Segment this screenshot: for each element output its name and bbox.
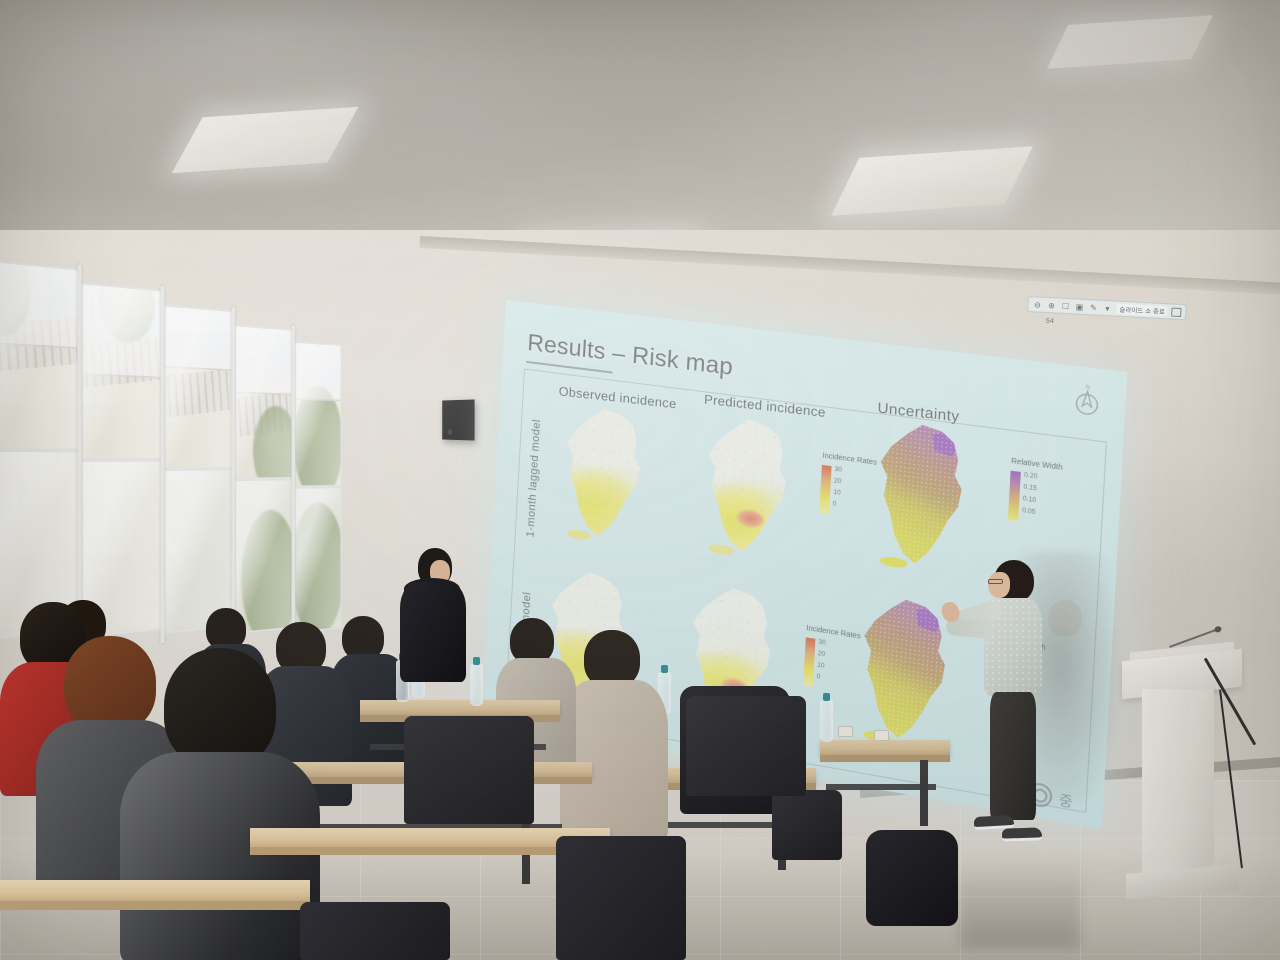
lectern-body — [1142, 689, 1214, 875]
legend-tick: 30 — [834, 465, 842, 477]
north-arrow-icon: N — [1069, 381, 1106, 422]
slide-number: 54 — [1046, 318, 1054, 325]
uncertainty-dither — [858, 418, 990, 575]
desk-rail — [826, 784, 936, 790]
floor-reflection — [960, 838, 1080, 948]
legend-tick: 20 — [834, 476, 842, 489]
korea-map-shape — [547, 403, 666, 546]
legend-tick: 0.05 — [1022, 506, 1036, 520]
water-bottle[interactable] — [820, 700, 833, 742]
presenter-face — [988, 572, 1010, 598]
backpack — [866, 830, 958, 926]
presenter-trousers — [990, 692, 1036, 820]
chair[interactable] — [686, 696, 806, 796]
desk-edge — [820, 755, 950, 762]
legend-tick: 0 — [816, 672, 824, 685]
wall-outlet[interactable] — [838, 726, 853, 737]
legend-tick: 10 — [833, 488, 841, 501]
svg-text:N: N — [1086, 385, 1091, 392]
standing-attendee — [398, 548, 468, 678]
window-shade[interactable] — [296, 343, 341, 402]
chair[interactable] — [300, 902, 450, 960]
korea-map-shape — [858, 418, 990, 575]
end-show-label[interactable]: 슬라이드 쇼 종료 — [1116, 304, 1168, 317]
presenter — [968, 560, 1056, 850]
chevron-down-icon[interactable]: ▾ — [1102, 303, 1113, 314]
tree-foliage — [253, 406, 294, 480]
legend-ticks: 0.20 0.15 0.10 0.05 — [1022, 470, 1038, 519]
window-shade[interactable] — [82, 284, 162, 378]
window-mullion — [77, 265, 81, 657]
glasses-icon — [988, 579, 1003, 584]
legend-tick: 0 — [832, 499, 840, 512]
map-predicted-1month — [688, 413, 814, 562]
window-shade[interactable] — [236, 326, 293, 395]
desk — [0, 880, 310, 960]
window-pane — [81, 282, 164, 460]
window-mullion — [161, 286, 165, 643]
zoom-in-icon[interactable]: ⊕ — [1046, 300, 1057, 311]
window-pane — [234, 325, 294, 480]
chair[interactable] — [556, 836, 686, 960]
window-mullion — [292, 326, 295, 634]
window-pane — [294, 341, 341, 487]
lecture-hall-scene: Results – Risk map N Observed incidence … — [0, 0, 1280, 960]
tree-foliage — [294, 502, 341, 633]
zoom-out-icon[interactable]: ⊖ — [1032, 299, 1043, 310]
window-shade[interactable] — [0, 261, 79, 349]
roof-outside — [164, 368, 234, 419]
desk-top — [360, 700, 560, 716]
presenter-shoe — [1002, 827, 1042, 841]
pen-icon[interactable]: ✎ — [1088, 302, 1099, 313]
desk-leg — [920, 760, 928, 826]
desk-top — [820, 740, 950, 756]
chair[interactable] — [404, 716, 534, 824]
window-pane — [0, 259, 81, 451]
korea-map-shape — [688, 413, 814, 562]
map-uncertainty-1month — [858, 418, 990, 575]
presenter-view-icon[interactable]: ☐ — [1060, 301, 1071, 312]
map-observed-1month — [547, 403, 666, 546]
district-borders — [688, 413, 814, 562]
puffer-jacket — [400, 582, 466, 682]
desk-edge — [0, 901, 310, 910]
window-mullion — [231, 307, 235, 638]
window-view — [296, 488, 341, 631]
chair[interactable] — [772, 790, 842, 860]
slide-show-icon[interactable]: ▣ — [1074, 301, 1085, 312]
desk-top — [0, 880, 310, 902]
window-shade[interactable] — [165, 307, 233, 371]
wall-outlet[interactable] — [874, 730, 889, 741]
fullscreen-icon[interactable] — [1172, 307, 1182, 317]
district-borders — [547, 403, 666, 546]
window-pane-lower — [294, 486, 341, 633]
water-bottle[interactable] — [470, 664, 483, 706]
window-pane — [164, 305, 234, 470]
audience-head — [164, 648, 276, 768]
